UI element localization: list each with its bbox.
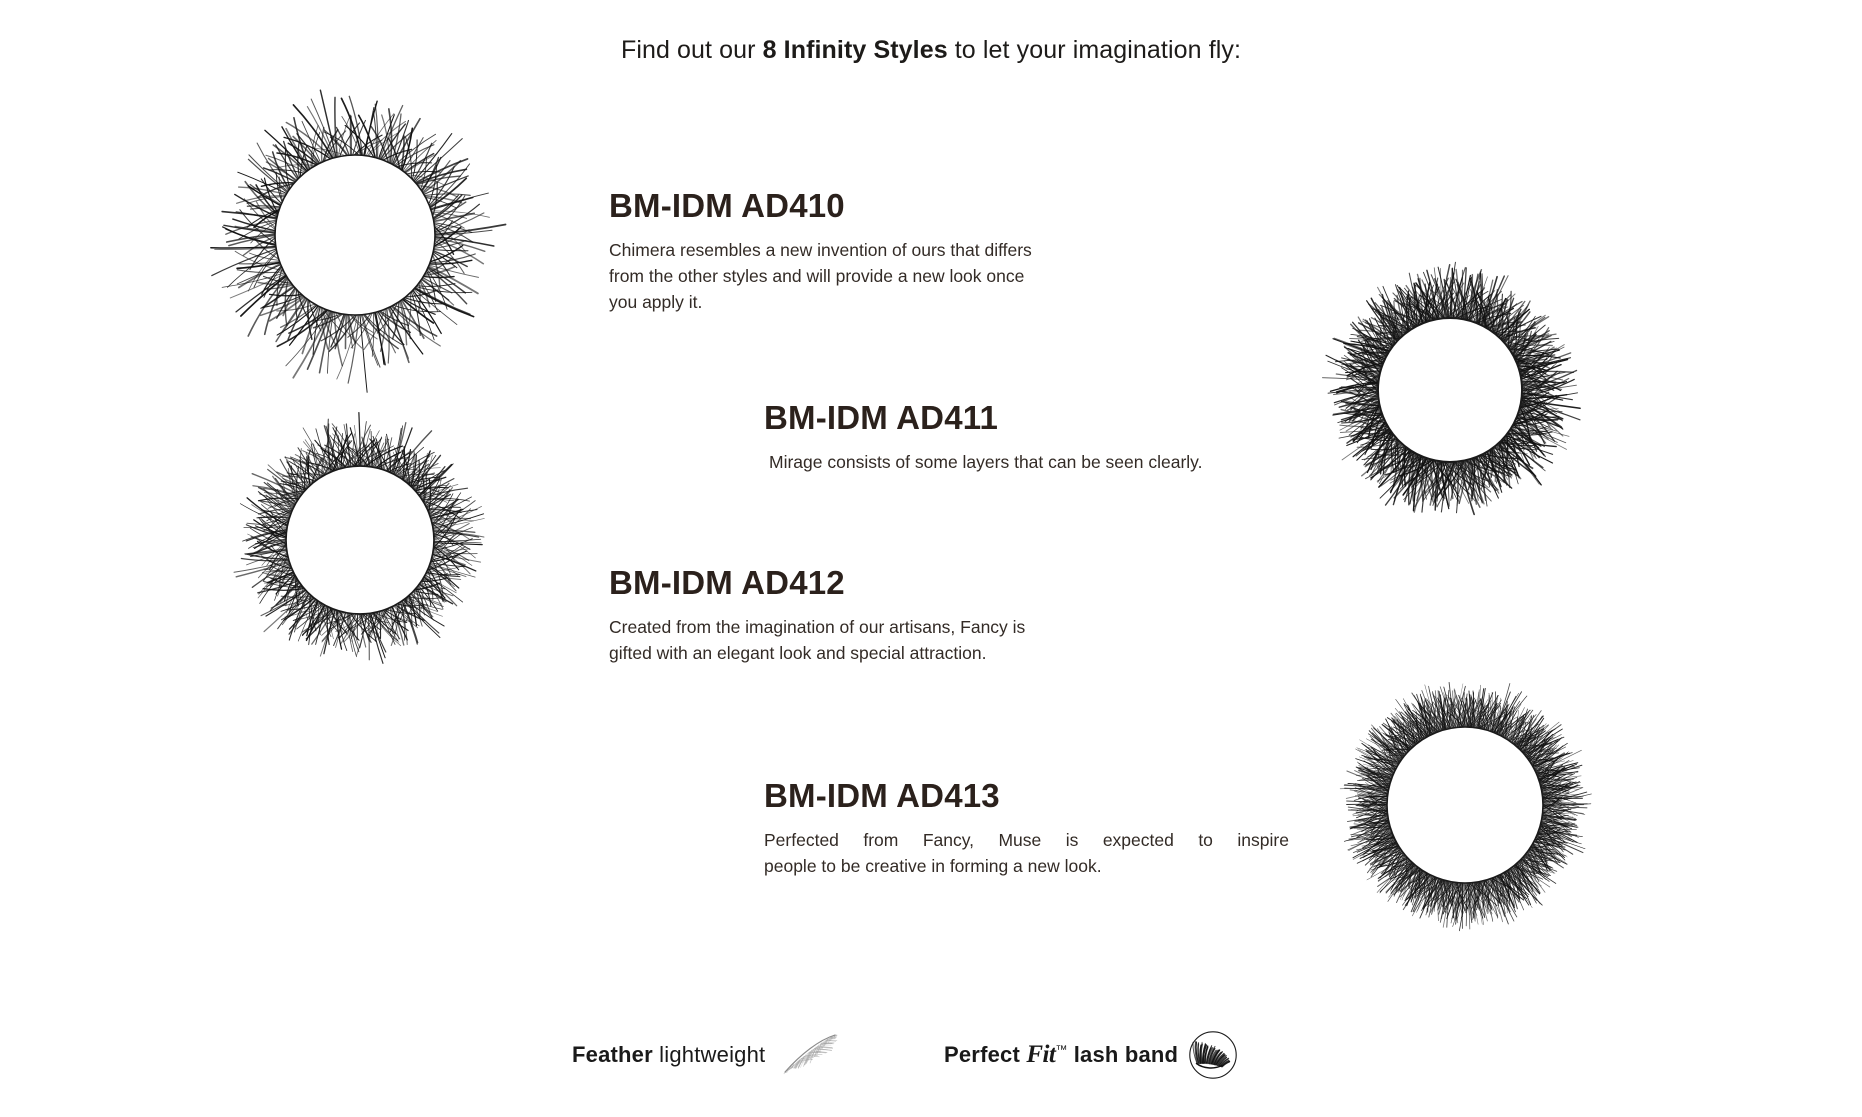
lash-band-circle-icon [1188, 1030, 1238, 1080]
product-block-ad411: BM-IDM AD411 Mirage consists of some lay… [764, 400, 1202, 476]
product-title-ad410: BM-IDM AD410 [609, 188, 1032, 224]
lash-ring-ad412-fancy [240, 420, 480, 660]
product-description-ad413: PerfectedfromFancy,Museisexpectedtoinspi… [764, 828, 1289, 879]
badge-feather-bold: Feather [572, 1042, 653, 1067]
headline-text-after: to let your imagination fly: [948, 36, 1241, 64]
product-description-ad411: Mirage consists of some layers that can … [769, 450, 1202, 476]
product-block-ad410: BM-IDM AD410 Chimera resembles a new inv… [609, 188, 1032, 315]
badge-perfectfit-prefix: Perfect [944, 1042, 1026, 1067]
description-line: Chimera resembles a new invention of our… [609, 238, 1032, 264]
description-line: Created from the imagination of our arti… [609, 615, 1025, 641]
description-line: you apply it. [609, 290, 1032, 316]
footer-badges: Feather lightweight Perfect Fit™ lash ba… [0, 1020, 1862, 1090]
product-block-ad412: BM-IDM AD412 Created from the imaginatio… [609, 565, 1025, 667]
page-headline: Find out our 8 Infinity Styles to let yo… [0, 36, 1862, 65]
description-line: PerfectedfromFancy,Museisexpectedtoinspi… [764, 828, 1289, 854]
product-block-ad413: BM-IDM AD413 PerfectedfromFancy,Museisex… [764, 778, 1289, 880]
description-line: Mirage consists of some layers that can … [769, 450, 1202, 476]
badge-perfectfit-label: Perfect Fit™ lash band [944, 1041, 1178, 1069]
product-title-ad412: BM-IDM AD412 [609, 565, 1025, 601]
product-title-ad411: BM-IDM AD411 [764, 400, 1202, 436]
description-line: gifted with an elegant look and special … [609, 641, 1025, 667]
lash-ring-ad413-muse [1340, 680, 1590, 930]
badge-perfectfit-suffix: lash band [1067, 1042, 1178, 1067]
badge-feather-lightweight: Feather lightweight [572, 1032, 841, 1078]
description-line: from the other styles and will provide a… [609, 264, 1032, 290]
badge-feather-label: Feather lightweight [572, 1042, 765, 1068]
product-description-ad412: Created from the imagination of our arti… [609, 615, 1025, 666]
description-line: people to be creative in forming a new l… [764, 854, 1289, 880]
badge-feather-light: lightweight [653, 1042, 765, 1067]
headline-text-before: Find out our [621, 36, 763, 64]
badge-perfect-fit-lash-band: Perfect Fit™ lash band [944, 1030, 1238, 1080]
page-root: Find out our 8 Infinity Styles to let yo… [0, 0, 1862, 1117]
badge-perfectfit-tm: ™ [1055, 1043, 1067, 1057]
badge-perfectfit-fit: Fit [1026, 1041, 1055, 1068]
product-title-ad413: BM-IDM AD413 [764, 778, 1289, 814]
lash-ring-ad411-mirage [1330, 270, 1570, 510]
headline-text-strong: 8 Infinity Styles [763, 36, 948, 64]
lash-ring-ad410-chimera [230, 110, 480, 360]
product-description-ad410: Chimera resembles a new invention of our… [609, 238, 1032, 315]
feather-icon [775, 1032, 841, 1078]
